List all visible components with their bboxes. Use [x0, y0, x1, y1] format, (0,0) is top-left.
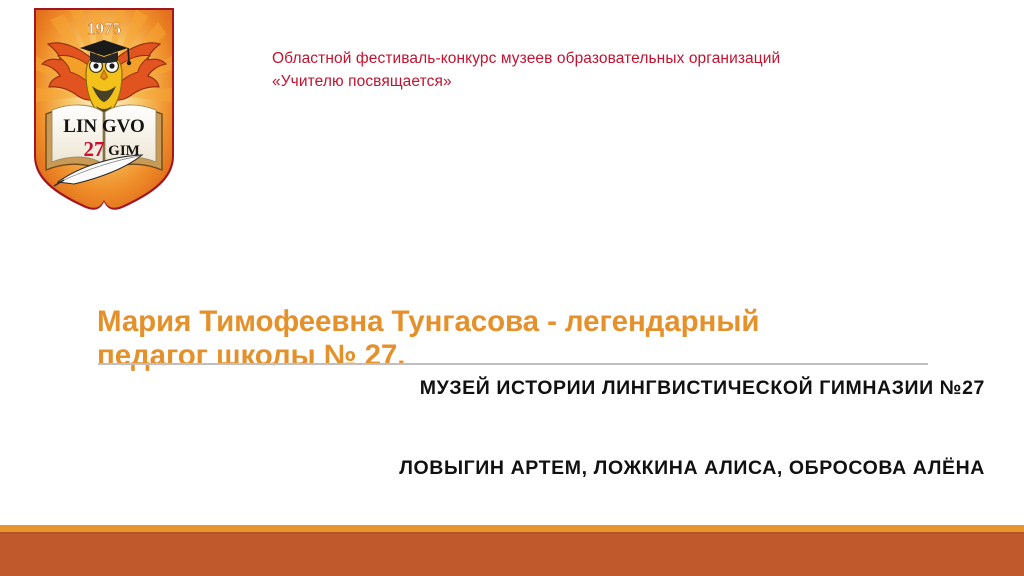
- slide-title-line-1: Мария Тимофеевна Тунгасова - легендарный: [97, 305, 937, 339]
- subtitle-block: МУЗЕЙ ИСТОРИИ ЛИНГВИСТИЧЕСКОЙ ГИМНАЗИИ №…: [160, 376, 985, 480]
- event-header-line-1: Областной фестиваль-конкурс музеев образ…: [272, 47, 972, 70]
- footer-bar-hairline: [0, 532, 1024, 534]
- emblem-book-number: 27: [84, 137, 105, 161]
- author-names: ЛОВЫГИН АРТЕМ, ЛОЖКИНА АЛИСА, ОБРОСОВА А…: [160, 456, 985, 480]
- footer-accent-bar: [0, 525, 1024, 532]
- slide-title-line-2: педагог школы № 27.: [97, 339, 937, 373]
- museum-name: МУЗЕЙ ИСТОРИИ ЛИНГВИСТИЧЕСКОЙ ГИМНАЗИИ №…: [160, 376, 985, 400]
- event-header: Областной фестиваль-конкурс музеев образ…: [272, 47, 972, 93]
- school-emblem: 1975: [30, 6, 178, 211]
- event-header-line-2: «Учителю посвящается»: [272, 70, 972, 93]
- emblem-book-line1: LIN GVO: [63, 116, 144, 137]
- footer-main-bar: [0, 532, 1024, 576]
- presentation-slide: 1975: [0, 0, 1024, 576]
- title-divider: [98, 363, 928, 365]
- emblem-year: 1975: [87, 19, 121, 38]
